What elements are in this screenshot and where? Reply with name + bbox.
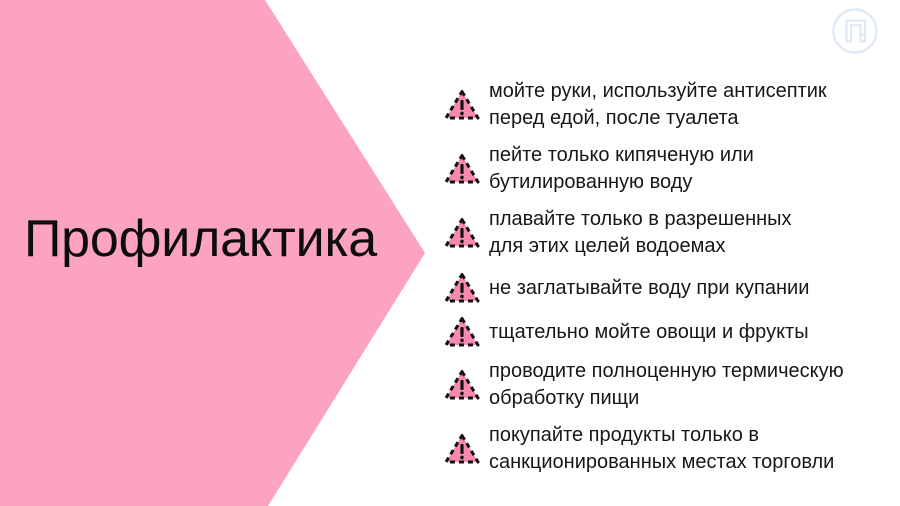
slide-canvas: Профилактика мойте руки, используйте ант… — [0, 0, 900, 506]
list-item: не заглатывайте воду при купании — [440, 270, 890, 306]
list-item-line: покупайте продукты только в — [489, 422, 834, 449]
list-item-line: для этих целей водоемах — [489, 233, 792, 260]
list-item: плавайте только в разрешенных для этих ц… — [440, 206, 890, 260]
list-item-text: покупайте продукты только в санкциониров… — [489, 422, 834, 476]
list-item-line: тщательно мойте овощи и фрукты — [489, 319, 809, 346]
list-item: пейте только кипяченую или бутилированну… — [440, 142, 890, 196]
warning-triangle-icon — [443, 271, 481, 305]
list-item-line: обработку пищи — [489, 385, 844, 412]
list-item-line: мойте руки, используйте антисептик — [489, 78, 827, 105]
warning-triangle-icon — [443, 152, 481, 186]
list-item-line: проводите полноценную термическую — [489, 358, 844, 385]
list-item-line: не заглатывайте воду при купании — [489, 275, 809, 302]
list-item-text: тщательно мойте овощи и фрукты — [489, 319, 809, 346]
circular-monogram-logo-icon — [831, 7, 879, 55]
warning-triangle-icon — [443, 216, 481, 250]
list-item: мойте руки, используйте антисептик перед… — [440, 78, 890, 132]
list-item-text: пейте только кипяченую или бутилированну… — [489, 142, 754, 196]
list-item-line: санкционированных местах торговли — [489, 449, 834, 476]
list-item-line: плавайте только в разрешенных — [489, 206, 792, 233]
list-item-line: бутилированную воду — [489, 169, 754, 196]
page-title: Профилактика — [24, 209, 404, 269]
list-item-line: пейте только кипяченую или — [489, 142, 754, 169]
warning-triangle-icon — [443, 432, 481, 466]
list-item: тщательно мойте овощи и фрукты — [440, 314, 890, 350]
warning-triangle-icon — [443, 368, 481, 402]
list-item: покупайте продукты только в санкциониров… — [440, 422, 890, 476]
warning-triangle-icon — [443, 88, 481, 122]
list-item-text: мойте руки, используйте антисептик перед… — [489, 78, 827, 132]
list-item-text: не заглатывайте воду при купании — [489, 275, 809, 302]
tips-list: мойте руки, используйте антисептик перед… — [440, 78, 890, 486]
list-item: проводите полноценную термическую обрабо… — [440, 358, 890, 412]
list-item-text: проводите полноценную термическую обрабо… — [489, 358, 844, 412]
warning-triangle-icon — [443, 315, 481, 349]
list-item-line: перед едой, после туалета — [489, 105, 827, 132]
list-item-text: плавайте только в разрешенных для этих ц… — [489, 206, 792, 260]
